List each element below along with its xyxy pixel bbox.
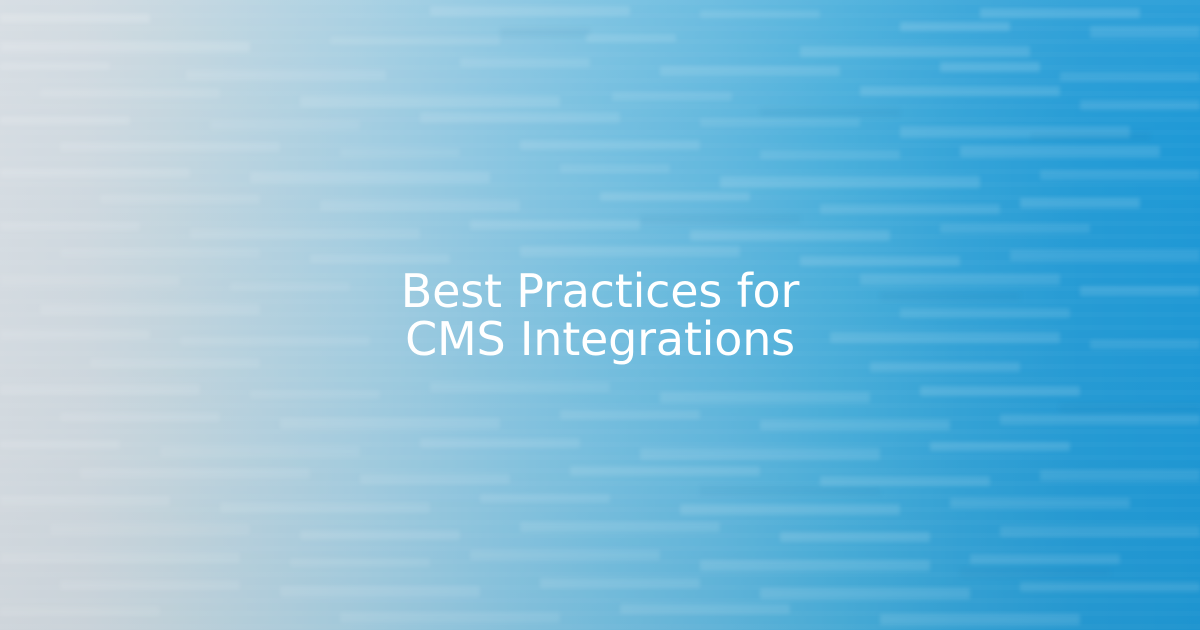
social-banner-card: Best Practices for CMS Integrations [0, 0, 1200, 630]
banner-title-block: Best Practices for CMS Integrations [0, 0, 1200, 630]
banner-title-line-2: CMS Integrations [405, 315, 795, 363]
banner-title-line-1: Best Practices for [401, 267, 799, 315]
